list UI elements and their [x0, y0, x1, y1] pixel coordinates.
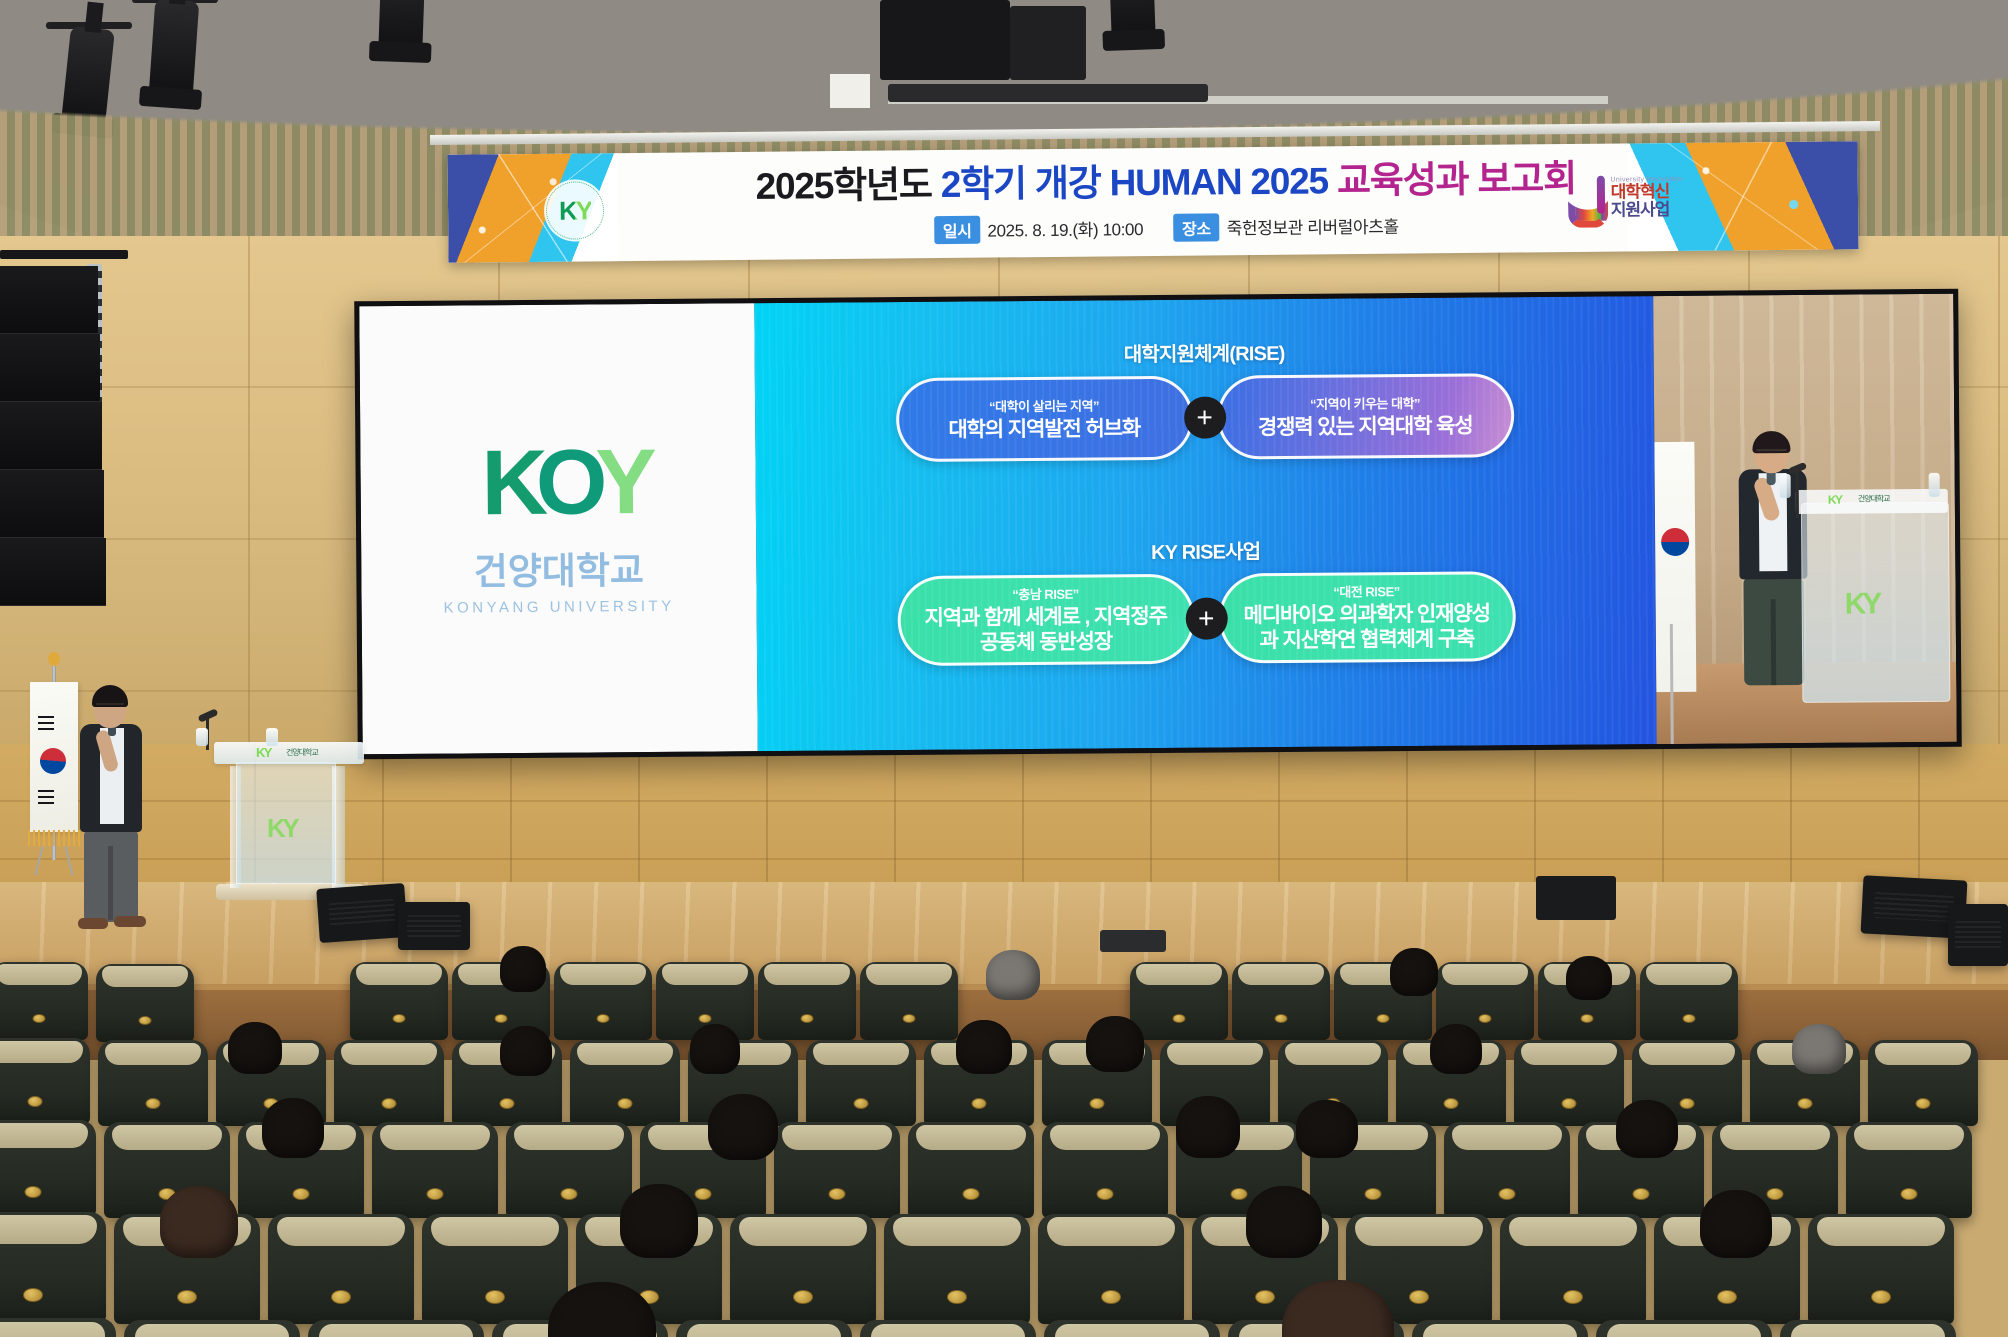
banner-date-value: 2025. 8. 19.(화) 10:00: [987, 220, 1143, 240]
seat: [1846, 1122, 1972, 1218]
seat-emblem-icon: [963, 1188, 980, 1200]
seat-emblem-icon: [1562, 1098, 1577, 1109]
seat: [1640, 962, 1738, 1040]
konyang-logo-icon: KOY: [471, 441, 645, 525]
ui-logo-line1: 대학혁신: [1611, 183, 1682, 201]
seat: [730, 1214, 876, 1324]
seat-emblem-icon: [1680, 1098, 1695, 1109]
seat: [908, 1122, 1034, 1218]
podium-logo-k: K: [267, 813, 282, 843]
podium-brand-ky-text: KY: [256, 745, 271, 760]
auditorium-photo: KY 2025학년도 2학기 개강 HUMAN 2025 교육성과 보고회 일시…: [0, 0, 2008, 1337]
seat-emblem-icon: [1377, 1014, 1390, 1023]
line-array-module: [0, 538, 106, 606]
pill-kyrise-left-main: 지역과 함께 세계로 , 지역정주 공동체 동반성장: [922, 605, 1169, 656]
line-array-module: [0, 402, 102, 470]
podium-logo-y: Y: [282, 813, 296, 843]
video-feed-podium-brand-kr: 건양대학교: [1858, 493, 1890, 504]
seat: [98, 1040, 208, 1126]
video-feed-podium-brand: KY: [1828, 493, 1842, 507]
stage-monitor-speaker: [316, 883, 408, 943]
attendee-head: [1792, 1024, 1846, 1074]
seat: [350, 962, 448, 1040]
trigram-bar: [38, 790, 54, 792]
seat-emblem-icon: [1683, 1014, 1696, 1023]
seat-emblem-icon: [331, 1290, 351, 1304]
seat-emblem-icon: [1717, 1290, 1737, 1304]
ky-seal-logo: KY: [544, 179, 607, 242]
led-screen-content: KOY 건양대학교 KONYANG UNIVERSITY 대학지원체계(RISE…: [359, 294, 1956, 755]
seat-emblem-icon: [1901, 1188, 1918, 1200]
seat: [0, 1318, 116, 1337]
ui-logo-line2: 지원사업: [1611, 200, 1682, 218]
banner-title-part2: 2학기 개강 HUMAN 2025: [941, 160, 1338, 205]
video-feed-podium-top: KY 건양대학교: [1796, 489, 1948, 514]
podium-body: KY: [236, 762, 336, 884]
ui-logo-text: University Innovation 대학혁신 지원사업: [1610, 176, 1682, 218]
banner-title-part3: 교육성과 보고회: [1337, 158, 1576, 201]
seat-emblem-icon: [801, 1014, 814, 1023]
seat-emblem-icon: [500, 1098, 515, 1109]
vf-logo-k: K: [1845, 587, 1863, 620]
banner-subtitle: 일시2025. 8. 19.(화) 10:00장소죽헌정보관 리버럴아츠홀: [626, 209, 1706, 247]
rear-speaker-cabinet: [1010, 6, 1086, 80]
seat: [860, 1320, 1036, 1337]
attendee-head: [500, 946, 546, 992]
video-feed-podium: KY 건양대학교 KY: [1801, 502, 1951, 703]
pill-rise-left-main: 대학의 지역발전 허브화: [948, 417, 1140, 443]
seat-emblem-icon: [695, 1188, 712, 1200]
line-array-module: [0, 266, 98, 334]
rear-speaker-cabinet: [880, 0, 1010, 80]
seat-emblem-icon: [1479, 1014, 1492, 1023]
korean-national-flag: [24, 660, 80, 860]
stage-monitor-speaker: [1536, 876, 1616, 920]
seat-emblem-icon: [854, 1098, 869, 1109]
attendee-head: [1430, 1024, 1482, 1074]
seat-emblem-icon: [947, 1290, 967, 1304]
attendee-head: [620, 1184, 698, 1258]
seat: [268, 1214, 414, 1324]
attendee-head: [1700, 1190, 1772, 1258]
seat: [758, 962, 856, 1040]
event-banner: KY 2025학년도 2학기 개강 HUMAN 2025 교육성과 보고회 일시…: [448, 141, 1859, 263]
seat-emblem-icon: [293, 1188, 310, 1200]
seat: [676, 1320, 852, 1337]
seat: [0, 1038, 90, 1124]
attendee-head: [262, 1098, 324, 1158]
seat: [1500, 1214, 1646, 1324]
seat-emblem-icon: [146, 1098, 161, 1109]
water-bottle: [266, 728, 278, 746]
seat-emblem-icon: [485, 1290, 505, 1304]
seat-emblem-icon: [1916, 1098, 1931, 1109]
seat-emblem-icon: [1090, 1098, 1105, 1109]
attendee-head: [1176, 1096, 1240, 1158]
catwalk-box: [830, 74, 870, 108]
seat: [884, 1214, 1030, 1324]
section-title-rise: 대학지원체계(RISE): [755, 334, 1654, 370]
pill-row-ky-rise: “충남 RISE” 지역과 함께 세계로 , 지역정주 공동체 동반성장 + “…: [756, 570, 1656, 667]
attendee-head: [690, 1024, 740, 1074]
presenter-legs: [84, 830, 138, 922]
attendee-head: [1390, 948, 1438, 996]
section-title-ky-rise: KY RISE사업: [756, 532, 1655, 568]
pill-kyrise-right: “대전 RISE” 메디바이오 의과학자 인재양성과 지산학연 협력체계 구축: [1218, 571, 1516, 663]
slide-logo-panel: KOY 건양대학교 KONYANG UNIVERSITY: [359, 303, 758, 754]
flag-fringe: [28, 830, 80, 846]
seat-emblem-icon: [793, 1290, 813, 1304]
seat: [1130, 962, 1228, 1040]
seat-emblem-icon: [1581, 1014, 1594, 1023]
pill-kyrise-left-quote: “충남 RISE”: [1012, 584, 1079, 604]
presenter-legs: [1743, 577, 1804, 685]
ky-logo-o: O: [536, 432, 596, 534]
seat-emblem-icon: [829, 1188, 846, 1200]
stage-presenter: [78, 690, 148, 920]
water-bottle: [196, 728, 208, 746]
line-array-speaker-left: [0, 260, 120, 640]
university-name-english: KONYANG UNIVERSITY: [444, 598, 675, 617]
seat: [1044, 1320, 1220, 1337]
seat-emblem-icon: [25, 1186, 42, 1198]
audience-seating: [0, 940, 2008, 1337]
seat: [1232, 962, 1330, 1040]
line-array-module: [0, 334, 100, 402]
live-video-feed: KY 건양대학교 KY: [1653, 294, 1957, 744]
pill-rise-right-quote: “지역이 키우는 대학”: [1310, 393, 1420, 413]
flag-stand: [30, 846, 78, 876]
university-innovation-logo: University Innovation 대학혁신 지원사업: [1567, 165, 1682, 230]
slide-section-rise: 대학지원체계(RISE) “대학이 살리는 지역” 대학의 지역발전 허브화 +…: [755, 334, 1655, 463]
attendee-head: [1616, 1100, 1678, 1158]
university-name-korean: 건양대학교: [474, 540, 645, 595]
presenter-shoe: [114, 916, 146, 927]
trigram-bar: [38, 796, 54, 798]
attendee-head: [956, 1020, 1012, 1074]
seat-emblem-icon: [1097, 1188, 1114, 1200]
taeguk-icon: [40, 748, 66, 774]
pill-rise-left-quote: “대학이 살리는 지역”: [989, 395, 1099, 415]
glasses-icon: [96, 703, 124, 708]
trigram-bar: [38, 722, 54, 724]
ui-mark-icon: [1567, 176, 1605, 220]
seat-emblem-icon: [1767, 1188, 1784, 1200]
seat-emblem-icon: [1365, 1188, 1382, 1200]
pill-kyrise-left: “충남 RISE” 지역과 함께 세계로 , 지역정주 공동체 동반성장: [897, 574, 1195, 666]
banner-date-label: 일시: [934, 216, 981, 244]
seat: [308, 1320, 484, 1337]
seat: [570, 1040, 680, 1126]
seat: [1042, 1122, 1168, 1218]
attendee-head: [1296, 1100, 1358, 1158]
seat-emblem-icon: [33, 1014, 46, 1023]
seat: [422, 1214, 568, 1324]
trigram-bar: [38, 728, 54, 730]
seat: [506, 1122, 632, 1218]
podium-ky-logo-icon: KY: [267, 813, 296, 844]
seat-emblem-icon: [382, 1098, 397, 1109]
line-array-module: [0, 470, 104, 538]
seat: [1780, 1320, 1956, 1337]
seat: [1868, 1040, 1978, 1126]
seat-emblem-icon: [1633, 1188, 1650, 1200]
seat-emblem-icon: [903, 1014, 916, 1023]
stage-podium: KY KY 건양대학교: [222, 742, 354, 902]
seat-emblem-icon: [177, 1290, 197, 1304]
seat: [0, 1212, 106, 1322]
seat: [1444, 1122, 1570, 1218]
seat: [554, 962, 652, 1040]
plus-icon: +: [1185, 597, 1227, 639]
ky-logo-y: Y: [595, 431, 645, 533]
seat: [334, 1040, 444, 1126]
seat-emblem-icon: [561, 1188, 578, 1200]
attendee-head: [500, 1026, 552, 1076]
seat: [1596, 1320, 1772, 1337]
seat: [806, 1040, 916, 1126]
seat: [774, 1122, 900, 1218]
presenter-shoe: [78, 918, 108, 929]
seat: [1038, 1214, 1184, 1324]
seat-emblem-icon: [597, 1014, 610, 1023]
line-array-bar: [0, 250, 128, 259]
banner-title-part1: 2025학년도: [755, 164, 941, 207]
vf-podium-ky-text: KY: [1828, 493, 1842, 507]
attendee-head: [160, 1186, 238, 1258]
seat-emblem-icon: [618, 1098, 633, 1109]
seat: [1412, 1320, 1588, 1337]
pill-row-rise: “대학이 살리는 지역” 대학의 지역발전 허브화 + “지역이 키우는 대학”…: [755, 372, 1655, 463]
seat-emblem-icon: [1444, 1098, 1459, 1109]
seat-emblem-icon: [1409, 1290, 1429, 1304]
podium-desktop: KY 건양대학교: [214, 742, 364, 764]
attendee-head: [1566, 956, 1612, 1000]
pill-kyrise-right-main: 메디바이오 의과학자 인재양성과 지산학연 협력체계 구축: [1243, 602, 1490, 653]
seat-emblem-icon: [427, 1188, 444, 1200]
ky-seal-ring: [546, 181, 605, 240]
seat-emblem-icon: [495, 1014, 508, 1023]
catwalk-equipment: [888, 84, 1208, 102]
flag-finial: [48, 652, 60, 666]
slide-section-ky-rise: KY RISE사업 “충남 RISE” 지역과 함께 세계로 , 지역정주 공동…: [756, 532, 1656, 667]
seat-emblem-icon: [1173, 1014, 1186, 1023]
seat: [1514, 1040, 1624, 1126]
pill-kyrise-right-quote: “대전 RISE”: [1333, 581, 1400, 601]
seat-emblem-icon: [1255, 1290, 1275, 1304]
seat-emblem-icon: [1563, 1290, 1583, 1304]
seat: [372, 1122, 498, 1218]
seat-emblem-icon: [1101, 1290, 1121, 1304]
seat: [1808, 1214, 1954, 1324]
seat-emblem-icon: [1499, 1188, 1516, 1200]
seat-emblem-icon: [1871, 1290, 1891, 1304]
trigram-bar: [38, 716, 54, 718]
podium-brand-korean: 건양대학교: [286, 747, 318, 758]
seat-emblem-icon: [393, 1014, 406, 1023]
trigram-bar: [38, 802, 54, 804]
pill-rise-left: “대학이 살리는 지역” 대학의 지역발전 허브화: [895, 376, 1193, 462]
podium-brand-ky: KY: [256, 745, 271, 760]
seat-emblem-icon: [699, 1014, 712, 1023]
plus-icon: +: [1184, 396, 1226, 438]
pill-rise-right: “지역이 키우는 대학” 경쟁력 있는 지역대학 육성: [1216, 373, 1514, 459]
glasses-icon: [1756, 449, 1786, 455]
attendee-head: [708, 1094, 778, 1160]
banner-place-label: 장소: [1173, 213, 1220, 241]
seat: [0, 962, 88, 1040]
attendee-head: [1246, 1186, 1322, 1258]
attendee-head: [228, 1022, 282, 1074]
vf-logo-y: Y: [1862, 587, 1878, 620]
pill-rise-right-main: 경쟁력 있는 지역대학 육성: [1258, 414, 1473, 440]
flag-cloth: [30, 682, 78, 832]
seat-emblem-icon: [28, 1096, 43, 1107]
video-feed-podium-mic: [1796, 470, 1799, 518]
water-bottle: [1780, 474, 1791, 498]
led-video-wall: KOY 건양대학교 KONYANG UNIVERSITY 대학지원체계(RISE…: [354, 289, 1962, 760]
seat-emblem-icon: [1275, 1014, 1288, 1023]
seat-emblem-icon: [1231, 1188, 1248, 1200]
seat-emblem-icon: [1798, 1098, 1813, 1109]
seat: [0, 1120, 96, 1216]
ky-logo-k: K: [481, 432, 536, 534]
video-feed-korean-flag: [1654, 442, 1696, 692]
banner-place-value: 죽헌정보관 리버럴아츠홀: [1227, 218, 1399, 239]
seat-emblem-icon: [972, 1098, 987, 1109]
attendee-head: [986, 950, 1040, 1000]
video-feed-podium-logo: KY: [1845, 587, 1879, 621]
seat-emblem-icon: [139, 1016, 152, 1025]
seat: [96, 964, 194, 1042]
seat: [860, 962, 958, 1040]
banner-title: 2025학년도 2학기 개강 HUMAN 2025 교육성과 보고회: [626, 159, 1706, 206]
water-bottle: [1929, 473, 1940, 497]
attendee-head: [1086, 1016, 1144, 1072]
slide-diagram-panel: 대학지원체계(RISE) “대학이 살리는 지역” 대학의 지역발전 허브화 +…: [754, 296, 1656, 751]
seat: [124, 1320, 300, 1337]
seat-emblem-icon: [23, 1288, 43, 1302]
